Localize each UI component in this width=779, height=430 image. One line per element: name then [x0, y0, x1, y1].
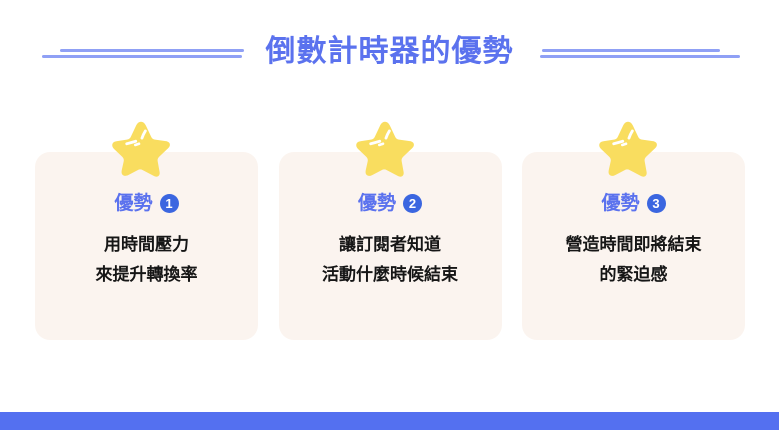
benefit-card-text: 讓訂閱者知道 活動什麼時候結束	[322, 230, 458, 290]
benefit-card: 優勢 2 讓訂閱者知道 活動什麼時候結束	[279, 152, 502, 340]
status-badge: 2	[403, 194, 422, 213]
rule-line-top	[542, 49, 720, 52]
benefit-card-body: 優勢 3 營造時間即將結束 的緊迫感	[522, 152, 745, 340]
benefit-card-label: 優勢 3	[601, 194, 665, 213]
status-badge: 1	[160, 194, 179, 213]
benefit-card-label: 優勢 2	[358, 194, 422, 213]
benefit-card: 優勢 1 用時間壓力 來提升轉換率	[35, 152, 258, 340]
footer-accent-bar	[0, 412, 779, 430]
title-rule-right	[536, 41, 748, 63]
benefit-label-text: 優勢	[358, 194, 396, 213]
benefit-card-body: 優勢 1 用時間壓力 來提升轉換率	[35, 152, 258, 340]
rule-line-top	[60, 49, 244, 52]
status-badge: 3	[647, 194, 666, 213]
benefit-card: 優勢 3 營造時間即將結束 的緊迫感	[522, 152, 745, 340]
benefit-label-text: 優勢	[601, 194, 639, 213]
benefit-card-text: 營造時間即將結束 的緊迫感	[566, 230, 702, 290]
benefit-card-body: 優勢 2 讓訂閱者知道 活動什麼時候結束	[279, 152, 502, 340]
rule-line-bottom	[540, 55, 740, 58]
benefit-card-text: 用時間壓力 來提升轉換率	[96, 230, 198, 290]
benefit-card-list: 優勢 1 用時間壓力 來提升轉換率 優勢 2 讓訂閱者知道 活動什麼時候結束	[35, 152, 745, 340]
title-rule-left	[32, 41, 244, 63]
benefit-label-text: 優勢	[114, 194, 152, 213]
rule-line-bottom	[42, 55, 242, 58]
page-header: 倒數計時器的優勢	[0, 24, 779, 80]
page-title: 倒數計時器的優勢	[244, 37, 536, 67]
benefit-card-label: 優勢 1	[114, 194, 178, 213]
